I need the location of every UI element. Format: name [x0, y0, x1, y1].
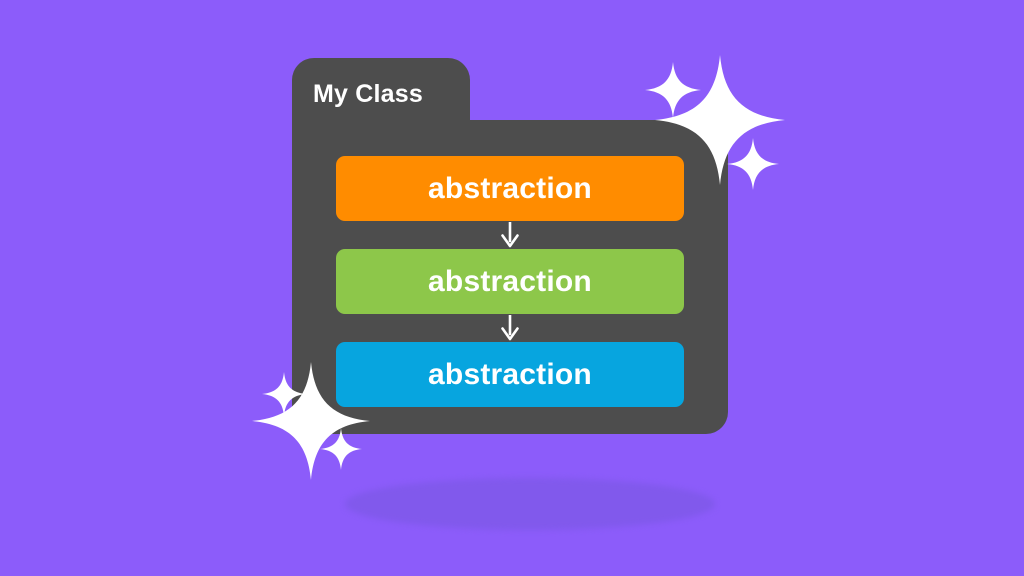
- flow-arrow-2: [500, 314, 520, 342]
- class-folder: My Class abstraction abstraction abstrac…: [292, 58, 728, 434]
- abstraction-stack: abstraction abstraction abstraction: [336, 156, 684, 407]
- flow-arrow-1: [500, 221, 520, 249]
- illustration-canvas: My Class abstraction abstraction abstrac…: [0, 0, 1024, 576]
- down-arrow-icon: [500, 315, 520, 341]
- ground-shadow: [345, 478, 715, 530]
- abstraction-box-green: abstraction: [336, 249, 684, 314]
- down-arrow-icon: [500, 222, 520, 248]
- sparkle-tiny-right: [727, 138, 779, 190]
- abstraction-box-blue: abstraction: [336, 342, 684, 407]
- abstraction-label: abstraction: [428, 360, 592, 390]
- abstraction-label: abstraction: [428, 267, 592, 297]
- abstraction-box-orange: abstraction: [336, 156, 684, 221]
- class-title: My Class: [313, 80, 423, 109]
- sparkle-tiny-bottom-left: [320, 428, 362, 470]
- abstraction-label: abstraction: [428, 174, 592, 204]
